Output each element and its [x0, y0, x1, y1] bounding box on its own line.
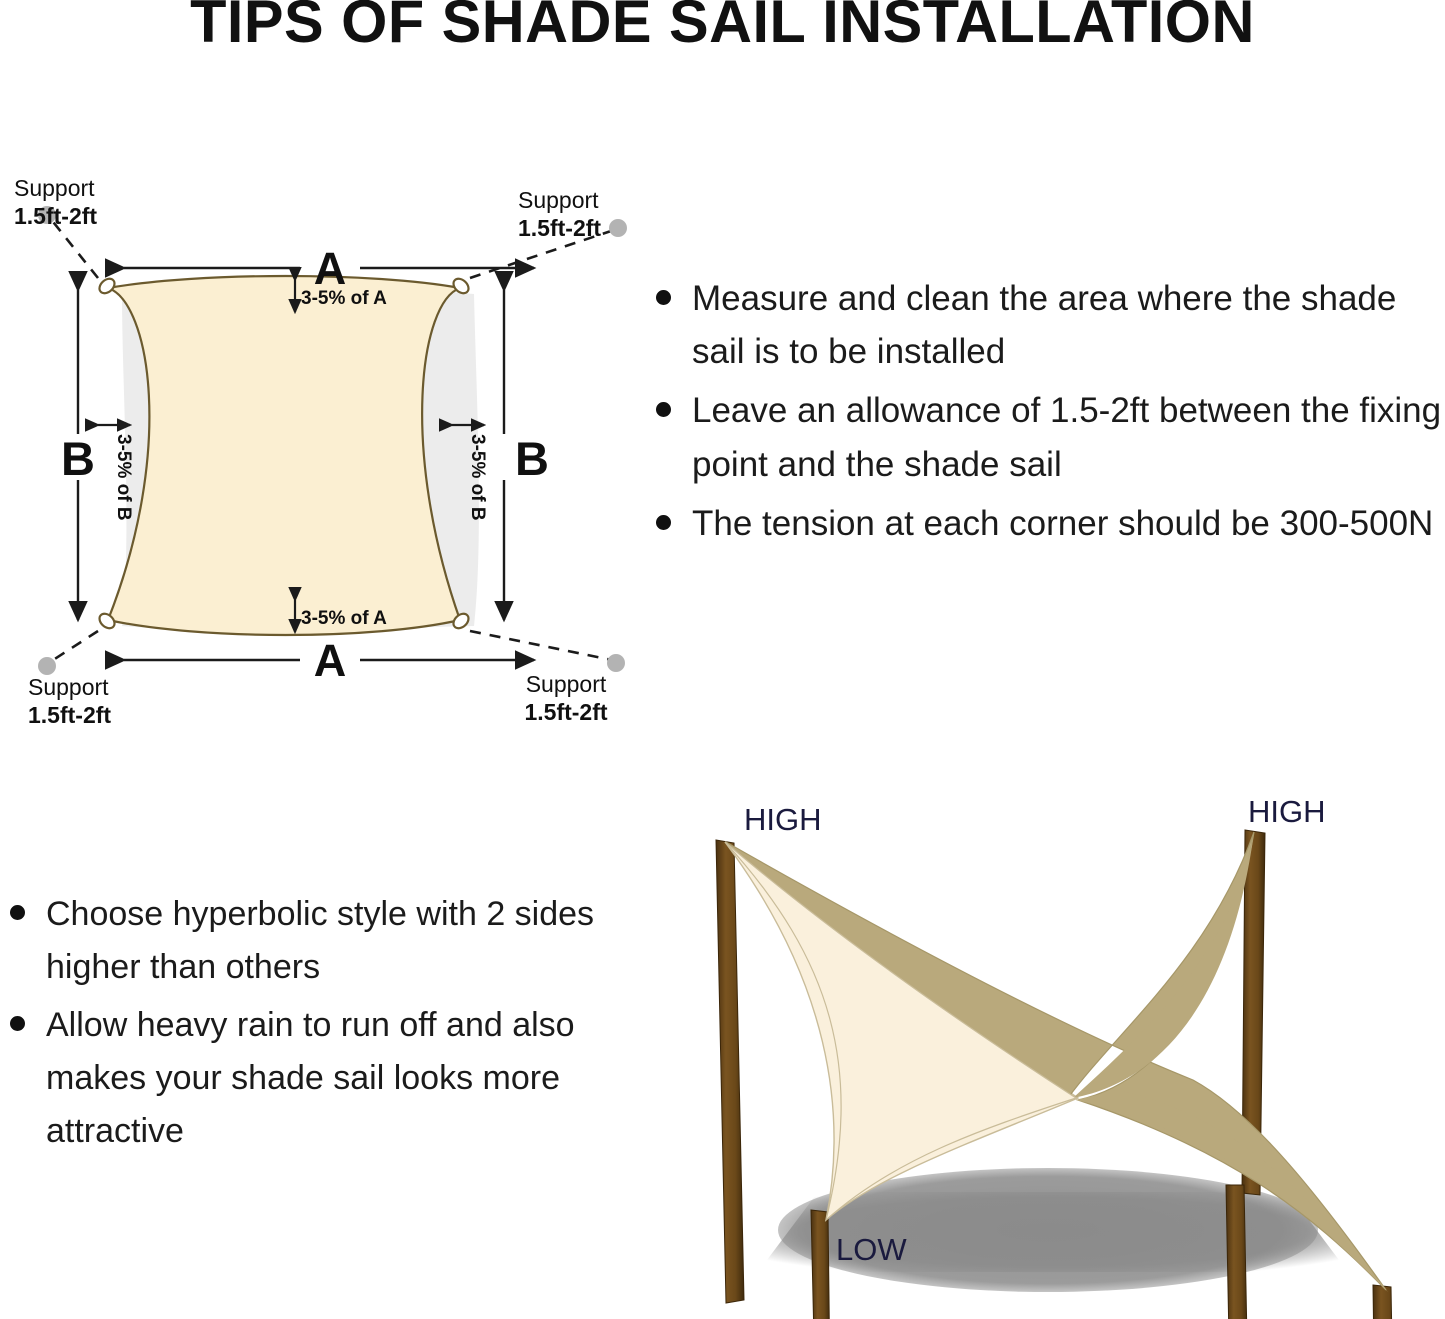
list-item-text: The tension at each corner should be 300… [692, 504, 1433, 543]
support-dot [38, 657, 56, 675]
post-low-inner-left [811, 1210, 830, 1319]
post-mid-right [1226, 1185, 1248, 1319]
bullet-dot-icon [656, 290, 671, 305]
list-item: Allow heavy rain to run off and also mak… [4, 999, 624, 1157]
support-label-top-right-line1: Support [518, 187, 599, 213]
list-item-text: Choose hyperbolic style with 2 sides hig… [46, 895, 594, 986]
support-label-bottom-right-line1: Support [526, 671, 607, 697]
rectangular-sail-svg: A 3-5% of A A 3-5% of A B 3-5% of B B 3-… [0, 150, 660, 750]
dimension-b-right-label: B [515, 432, 549, 485]
bullet-dot-icon [656, 515, 671, 530]
curve-top-label: 3-5% of A [301, 288, 387, 309]
curve-bottom-label: 3-5% of A [301, 608, 387, 629]
bullet-dot-icon [656, 402, 671, 417]
page-title: TIPS OF SHADE SAIL INSTALLATION [7, 0, 1438, 52]
post-high-left [716, 840, 744, 1303]
rectangular-sail-diagram: A 3-5% of A A 3-5% of A B 3-5% of B B 3-… [0, 150, 660, 750]
support-label-top-left-line2: 1.5ft-2ft [14, 203, 97, 229]
support-label-bottom-left-line1: Support [28, 674, 109, 700]
label-low-inner: LOW [836, 1232, 907, 1267]
hyperbolic-tips-list: Choose hyperbolic style with 2 sides hig… [4, 888, 624, 1163]
installation-tips-list: Measure and clean the area where the sha… [648, 272, 1445, 556]
list-item: Leave an allowance of 1.5-2ft between th… [648, 384, 1445, 490]
support-label-top-left-line1: Support [14, 175, 95, 201]
curve-right-label: 3-5% of B [467, 434, 488, 521]
support-label-top-right-line2: 1.5ft-2ft [518, 215, 601, 241]
dimension-a-top-label: A [314, 243, 347, 294]
dimension-a-bottom-label: A [314, 635, 347, 686]
list-item-text: Measure and clean the area where the sha… [692, 279, 1396, 371]
support-line-bottom-right [470, 631, 612, 660]
support-label-bottom-left-line2: 1.5ft-2ft [28, 702, 111, 728]
dimension-b-left-label: B [61, 432, 95, 485]
list-item-text: Allow heavy rain to run off and also mak… [46, 1006, 575, 1149]
list-item: Measure and clean the area where the sha… [648, 272, 1445, 378]
label-high-right: HIGH [1248, 794, 1326, 829]
bullet-dot-icon [10, 905, 25, 920]
support-label-bottom-right-line2: 1.5ft-2ft [524, 699, 607, 725]
curve-left-label: 3-5% of B [113, 434, 134, 521]
hyperbolic-sail-diagram: HIGH HIGH LOW LOW [648, 780, 1445, 1319]
label-high-left: HIGH [744, 802, 822, 837]
sail-body [108, 276, 460, 635]
bullet-dot-icon [10, 1016, 25, 1031]
list-item-text: Leave an allowance of 1.5-2ft between th… [692, 391, 1441, 483]
grommet-icon [97, 276, 118, 296]
post-low-outer-right [1373, 1285, 1396, 1319]
support-dot [609, 219, 627, 237]
list-item: The tension at each corner should be 300… [648, 497, 1445, 550]
support-line-bottom-left [50, 631, 98, 662]
hyperbolic-sail-svg: HIGH HIGH LOW LOW [648, 780, 1445, 1319]
support-dot [607, 654, 625, 672]
list-item: Choose hyperbolic style with 2 sides hig… [4, 888, 624, 993]
